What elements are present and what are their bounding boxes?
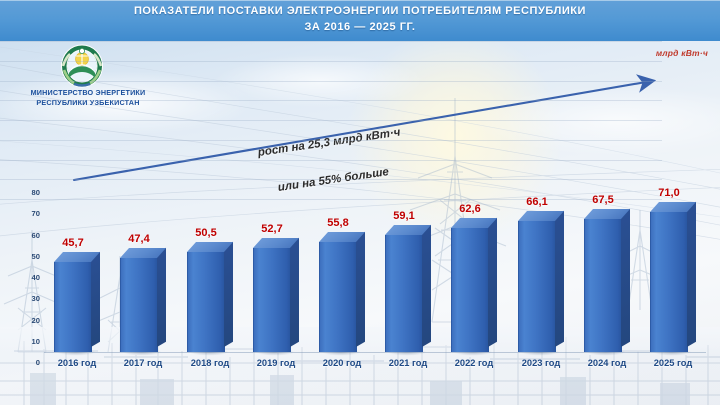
bar-value-label: 45,7: [48, 237, 98, 249]
x-axis-label-2022-год: 2022 год: [441, 358, 507, 368]
y-axis-tick: 60: [14, 231, 40, 240]
bar-2022-год[interactable]: 62,6: [451, 228, 497, 352]
bar-front-face: [187, 252, 225, 352]
y-axis-tick-labels: 80706050403020100: [14, 188, 40, 358]
bar-front-face: [584, 219, 622, 352]
bar-front-face: [518, 221, 556, 352]
bar-2018-год[interactable]: 50,5: [187, 252, 233, 352]
bar-value-label: 59,1: [379, 210, 429, 222]
gridline: [0, 120, 662, 121]
bar-value-label: 55,8: [313, 217, 363, 229]
gridline: [0, 41, 662, 42]
bar-side-face: [91, 252, 100, 347]
bar-side-face: [488, 218, 497, 347]
bar-side-face: [224, 242, 233, 347]
y-axis-tick: 10: [14, 337, 40, 346]
bar-front-face: [253, 248, 291, 352]
slide-header: ПОКАЗАТЕЛИ ПОСТАВКИ ЭЛЕКТРОЭНЕРГИИ ПОТРЕ…: [0, 0, 720, 41]
x-axis-label-2025-год: 2025 год: [640, 358, 706, 368]
bar-value-label: 47,4: [114, 233, 164, 245]
slide-canvas: ПОКАЗАТЕЛИ ПОСТАВКИ ЭЛЕКТРОЭНЕРГИИ ПОТРЕ…: [0, 0, 720, 405]
gridline: [0, 100, 662, 101]
bar-front-face: [120, 258, 158, 352]
x-axis-label-2017-год: 2017 год: [110, 358, 176, 368]
x-axis-label-2020-год: 2020 год: [309, 358, 375, 368]
y-axis-tick: 40: [14, 273, 40, 282]
bar-front-face: [319, 242, 357, 352]
bar-side-face: [687, 202, 696, 347]
y-axis-tick: 0: [14, 358, 40, 367]
chart-bars: 45,747,450,552,755,859,162,666,167,571,0: [44, 194, 706, 352]
bar-2017-год[interactable]: 47,4: [120, 258, 166, 352]
y-axis-tick: 50: [14, 252, 40, 261]
y-axis-tick: 80: [14, 188, 40, 197]
bar-chart: 80706050403020100 45,747,450,552,755,859…: [0, 41, 720, 405]
bar-value-label: 67,5: [578, 194, 628, 206]
bar-side-face: [157, 248, 166, 347]
bar-2016-год[interactable]: 45,7: [54, 262, 100, 352]
x-axis-label-2023-год: 2023 год: [508, 358, 574, 368]
bar-side-face: [555, 211, 564, 347]
y-axis-tick: 20: [14, 316, 40, 325]
bar-side-face: [621, 209, 630, 347]
bar-side-face: [290, 238, 299, 347]
gridline: [0, 140, 662, 141]
bar-2023-год[interactable]: 66,1: [518, 221, 564, 352]
y-axis-tick: 70: [14, 209, 40, 218]
chart-gridlines: [0, 41, 662, 199]
bar-value-label: 52,7: [247, 223, 297, 235]
bar-value-label: 62,6: [445, 203, 495, 215]
bar-2020-год[interactable]: 55,8: [319, 242, 365, 352]
bar-side-face: [356, 232, 365, 347]
bar-2021-год[interactable]: 59,1: [385, 235, 431, 352]
x-axis-label-2019-год: 2019 год: [243, 358, 309, 368]
gridline: [0, 61, 662, 62]
bar-front-face: [451, 228, 489, 352]
gridline: [0, 160, 662, 161]
bar-front-face: [650, 212, 688, 352]
bar-front-face: [54, 262, 92, 352]
x-axis-label-2021-год: 2021 год: [375, 358, 441, 368]
bar-value-label: 66,1: [512, 196, 562, 208]
gridline: [0, 179, 662, 180]
x-axis-label-2024-год: 2024 год: [574, 358, 640, 368]
page-title-line1: ПОКАЗАТЕЛИ ПОСТАВКИ ЭЛЕКТРОЭНЕРГИИ ПОТРЕ…: [0, 5, 720, 17]
gridline: [0, 81, 662, 82]
bar-value-label: 71,0: [644, 187, 694, 199]
x-axis-label-2016-год: 2016 год: [44, 358, 110, 368]
bar-front-face: [385, 235, 423, 352]
bar-2024-год[interactable]: 67,5: [584, 219, 630, 352]
bar-2025-год[interactable]: 71,0: [650, 212, 696, 352]
bar-2019-год[interactable]: 52,7: [253, 248, 299, 352]
bar-value-label: 50,5: [181, 227, 231, 239]
bar-side-face: [422, 225, 431, 347]
x-axis-category-labels: 2016 год2017 год2018 год2019 год2020 год…: [44, 358, 706, 374]
x-axis-label-2018-год: 2018 год: [177, 358, 243, 368]
y-axis-tick: 30: [14, 294, 40, 303]
page-title-line2: ЗА 2016 — 2025 ГГ.: [0, 21, 720, 33]
